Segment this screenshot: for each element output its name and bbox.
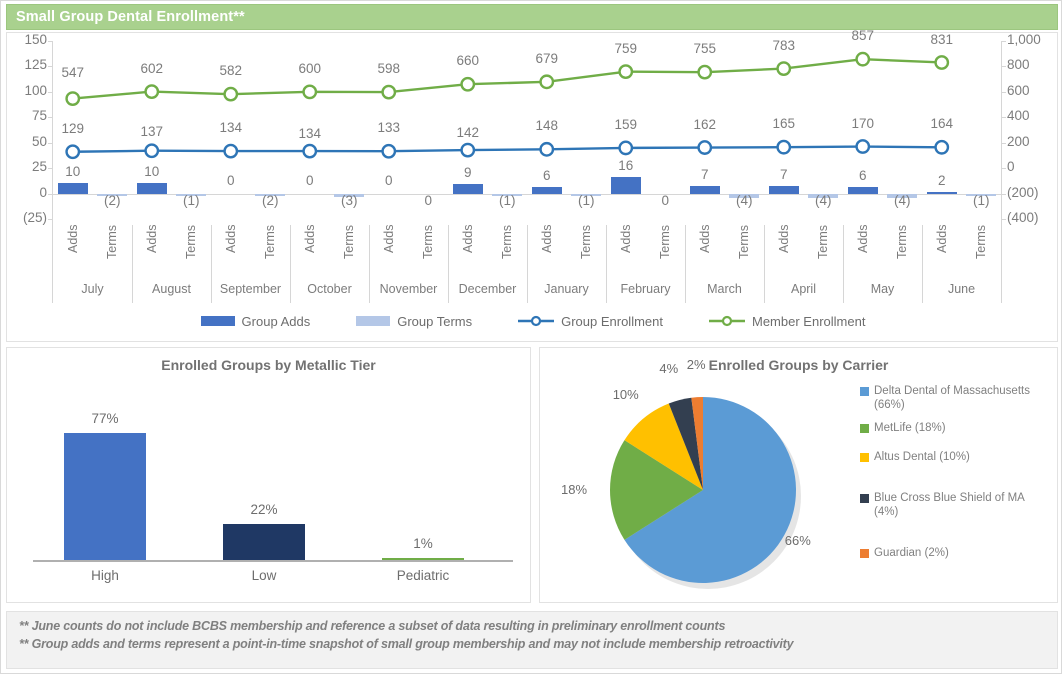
member-enrollment-label: 857 [823,28,903,43]
category-label-terms: Terms [804,225,843,277]
pie-slice-label: 2% [687,357,706,372]
group-enrollment-label: 133 [349,120,429,135]
carrier-legend-item[interactable]: Blue Cross Blue Shield of MA (4%) [860,491,1050,519]
group-enrollment-marker [225,145,237,157]
y-axis-right-tick: 200 [1007,134,1059,149]
month-label: June [922,277,1001,301]
chart-legend: Group AddsGroup TermsGroup EnrollmentMem… [53,309,1013,333]
carrier-legend-label: Guardian (2%) [874,546,949,560]
group-enrollment-line [73,147,942,152]
member-enrollment-marker [620,65,632,77]
pie-slice-label: 66% [785,533,811,548]
group-enrollment-label: 170 [823,116,903,131]
legend-label: Member Enrollment [752,314,865,329]
tier-value-label: 1% [362,536,484,551]
member-enrollment-marker [541,76,553,88]
group-terms-label: (4) [862,193,942,208]
legend-item[interactable]: Group Enrollment [518,314,663,329]
legend-swatch-icon [201,316,235,326]
legend-swatch-icon [356,316,390,326]
carrier-legend-label: Altus Dental (10%) [874,450,970,464]
group-adds-label: 0 [191,173,271,188]
group-adds-label: 7 [744,167,824,182]
month-label: March [685,277,764,301]
member-enrollment-marker [225,88,237,100]
dashboard-header: Small Group Dental Enrollment** [6,4,1058,30]
member-enrollment-marker [383,86,395,98]
group-enrollment-label: 137 [112,124,192,139]
legend-line-marker-icon [709,315,745,327]
month-axis: JulyAugustSeptemberOctoberNovemberDecemb… [53,277,1001,303]
group-enrollment-label: 159 [586,117,666,132]
tier-baseline [33,560,513,562]
metallic-tier-panel: Enrolled Groups by Metallic Tier 77%High… [6,347,531,603]
category-label-terms: Terms [330,225,369,277]
group-adds-label: 9 [428,165,508,180]
category-label-terms: Terms [409,225,448,277]
group-adds-label: 7 [665,167,745,182]
group-terms-label: (1) [151,193,231,208]
category-label-adds: Adds [448,225,487,277]
y-axis-right-tick: 1,000 [1007,32,1059,47]
legend-item[interactable]: Group Terms [356,314,472,329]
group-adds-label: 10 [112,164,192,179]
member-enrollment-label: 783 [744,38,824,53]
carrier-panel: Enrolled Groups by Carrier 66%18%10%4%2%… [539,347,1058,603]
category-label-terms: Terms [251,225,290,277]
group-terms-label: (2) [230,193,310,208]
group-enrollment-label: 142 [428,125,508,140]
carrier-legend-swatch-icon [860,549,869,558]
group-enrollment-marker [699,141,711,153]
group-enrollment-label: 134 [270,126,350,141]
legend-label: Group Enrollment [561,314,663,329]
tier-category-label: Low [193,568,335,583]
category-label-adds: Adds [211,225,250,277]
carrier-legend-swatch-icon [860,453,869,462]
member-enrollment-label: 660 [428,53,508,68]
member-enrollment-label: 582 [191,63,271,78]
group-enrollment-marker [383,145,395,157]
month-label: July [53,277,132,301]
y-axis-right-tick: 800 [1007,57,1059,72]
y-axis-right-tick: 400 [1007,108,1059,123]
category-label-adds: Adds [685,225,724,277]
y-axis-right-tick: 600 [1007,83,1059,98]
carrier-legend-swatch-icon [860,387,869,396]
category-label-adds: Adds [606,225,645,277]
tier-bar [64,433,146,560]
group-enrollment-label: 148 [507,118,587,133]
group-enrollment-label: 134 [191,120,271,135]
enrollment-combo-chart-panel: 1501251007550250(25) 1,0008006004002000(… [6,32,1058,342]
group-enrollment-marker [541,143,553,155]
group-enrollment-marker [620,142,632,154]
group-terms-label: (2) [72,193,152,208]
pie-slice-label: 4% [659,361,678,376]
member-enrollment-label: 602 [112,61,192,76]
member-enrollment-marker [936,56,948,68]
pie-svg [558,390,848,595]
member-enrollment-label: 831 [902,32,982,47]
y-axis-left-tick: (25) [9,210,47,225]
group-adds-label: 2 [902,173,982,188]
legend-item[interactable]: Group Adds [201,314,311,329]
category-label-adds: Adds [922,225,961,277]
group-adds-label: 0 [270,173,350,188]
category-label-terms: Terms [488,225,527,277]
tier-bar [223,524,305,560]
member-enrollment-label: 759 [586,41,666,56]
month-label: April [764,277,843,301]
month-label: September [211,277,290,301]
category-label-terms: Terms [962,225,1001,277]
member-enrollment-label: 679 [507,51,587,66]
group-enrollment-label: 129 [33,121,113,136]
month-label: December [448,277,527,301]
legend-item[interactable]: Member Enrollment [709,314,865,329]
member-enrollment-label: 600 [270,61,350,76]
category-label-adds: Adds [764,225,803,277]
y-axis-left-tick: 100 [9,83,47,98]
category-label-adds: Adds [369,225,408,277]
month-label: November [369,277,448,301]
category-label-terms: Terms [725,225,764,277]
month-label: January [527,277,606,301]
month-separator [1001,225,1002,303]
member-enrollment-marker [146,85,158,97]
group-adds-label: 6 [823,168,903,183]
group-enrollment-marker [857,140,869,152]
member-enrollment-label: 598 [349,61,429,76]
dashboard-page: Small Group Dental Enrollment** 15012510… [0,0,1062,674]
carrier-pie-plot: 66%18%10%4%2% [558,390,848,595]
group-terms-label: (4) [704,193,784,208]
category-label-terms: Terms [646,225,685,277]
carrier-legend-label: Delta Dental of Massachusetts (66%) [874,384,1050,412]
category-label-adds: Adds [132,225,171,277]
month-label: February [606,277,685,301]
group-enrollment-marker [146,145,158,157]
member-enrollment-marker [778,62,790,74]
group-adds-label: 6 [507,168,587,183]
group-enrollment-marker [778,141,790,153]
group-terms-label: (3) [309,193,389,208]
carrier-legend-swatch-icon [860,424,869,433]
group-enrollment-label: 164 [902,116,982,131]
category-label-adds: Adds [843,225,882,277]
footnotes: ** June counts do not include BCBS membe… [6,611,1058,669]
group-terms-label: (4) [783,193,863,208]
carrier-legend-swatch-icon [860,494,869,503]
category-label-adds: Adds [53,225,92,277]
member-enrollment-marker [699,66,711,78]
footnote-1: ** June counts do not include BCBS membe… [19,619,1057,633]
group-adds-label: 0 [349,173,429,188]
metallic-tier-title: Enrolled Groups by Metallic Tier [7,357,530,373]
carrier-legend-label: MetLife (18%) [874,421,946,435]
member-enrollment-marker [857,53,869,65]
legend-label: Group Adds [242,314,311,329]
month-label: October [290,277,369,301]
plot-area: 5476025826005986606797597557838578311291… [53,41,1001,219]
member-enrollment-label: 547 [33,65,113,80]
category-label-adds: Adds [527,225,566,277]
legend-label: Group Terms [397,314,472,329]
category-label-terms: Terms [567,225,606,277]
month-label: August [132,277,211,301]
member-enrollment-marker [462,78,474,90]
carrier-legend-item[interactable]: MetLife (18%) [860,421,1050,435]
carrier-legend: Delta Dental of Massachusetts (66%)MetLi… [860,384,1050,573]
y-axis-left-tick: 0 [9,185,47,200]
category-label-terms: Terms [172,225,211,277]
member-enrollment-marker [304,86,316,98]
group-enrollment-label: 162 [665,117,745,132]
pie-slice-label: 18% [561,482,587,497]
group-enrollment-marker [462,144,474,156]
group-terms-label: (1) [941,193,1021,208]
y-axis-left-tick: 150 [9,32,47,47]
legend-line-marker-icon [518,315,554,327]
tier-category-label: Pediatric [352,568,494,583]
carrier-legend-label: Blue Cross Blue Shield of MA (4%) [874,491,1050,519]
group-terms-label: 0 [388,193,468,208]
group-enrollment-marker [304,145,316,157]
footnote-2: ** Group adds and terms represent a poin… [19,637,1057,651]
carrier-legend-item[interactable]: Guardian (2%) [860,546,1050,560]
category-label-adds: Adds [290,225,329,277]
y-axis-right-tick: 0 [1007,159,1059,174]
category-label-terms: Terms [883,225,922,277]
group-enrollment-marker [936,141,948,153]
group-terms-label: (1) [467,193,547,208]
page-title: Small Group Dental Enrollment** [7,9,245,25]
pie-slice-label: 10% [613,387,639,402]
carrier-legend-item[interactable]: Delta Dental of Massachusetts (66%) [860,384,1050,412]
member-enrollment-label: 755 [665,41,745,56]
group-adds-label: 16 [586,158,666,173]
y-axis-left-tick: 50 [9,134,47,149]
group-enrollment-label: 165 [744,116,824,131]
tier-category-label: High [34,568,176,583]
tier-value-label: 77% [44,411,166,426]
month-label: May [843,277,922,301]
member-enrollment-marker [67,92,79,104]
group-adds-label: 10 [33,164,113,179]
tier-value-label: 22% [203,502,325,517]
carrier-title: Enrolled Groups by Carrier [540,357,1057,373]
group-terms-label: 0 [625,193,705,208]
group-terms-label: (1) [546,193,626,208]
category-label-terms: Terms [93,225,132,277]
carrier-legend-item[interactable]: Altus Dental (10%) [860,450,1050,464]
y-axis-right-tick: (400) [1007,210,1059,225]
group-enrollment-marker [67,146,79,158]
